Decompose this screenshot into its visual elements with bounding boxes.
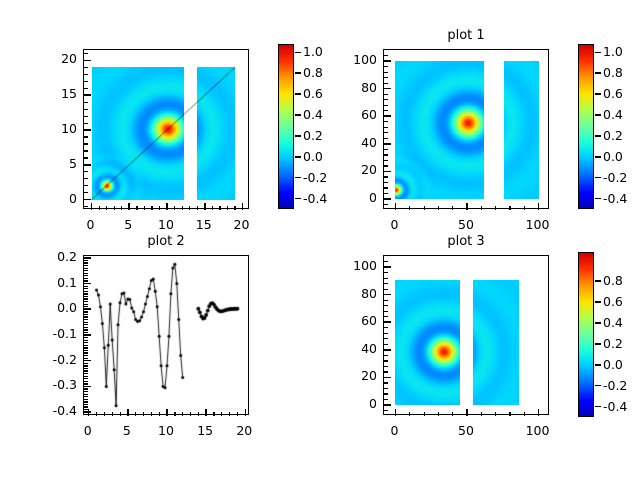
ytick-label: 0.2 [21,249,77,264]
ytick-minor [384,344,388,345]
ytick-minor [84,378,88,379]
ytick-label: 60 [321,107,377,122]
ytick-minor [84,288,88,289]
xtick-minor [99,206,100,210]
ytick-minor [84,260,88,261]
image-plot-unnamed-frame [83,49,249,209]
image-patch-left-canvas [395,280,460,405]
ytick-minor [384,187,388,188]
colorbar-bottom-right-tick-label: 0.0 [603,357,623,372]
ytick-minor [84,109,88,110]
ytick-minor [384,272,388,273]
ytick-minor [84,381,88,382]
xtick-minor [524,206,525,210]
xtick-minor [174,412,175,416]
xtick-label: 0 [369,423,419,438]
ytick-label: 40 [321,341,377,356]
xtick-minor [198,412,199,416]
ytick-minor [84,347,88,348]
ytick-minor [384,204,388,205]
ytick-minor [84,324,88,325]
colorbar-top-right-tick-label: -0.2 [603,170,627,185]
ytick-minor [384,193,388,194]
ytick-major [84,360,91,362]
xtick-minor [151,206,152,210]
ytick-label: 5 [21,156,77,171]
xtick-minor [182,412,183,416]
xtick-minor [174,206,175,210]
ytick-minor [84,306,88,307]
ytick-minor [384,355,388,356]
ytick-label: 80 [321,286,377,301]
ytick-minor [384,333,388,334]
ytick-minor [384,388,388,389]
ytick-label: 0 [21,191,77,206]
ytick-minor [84,296,88,297]
xtick-minor [135,412,136,416]
ytick-minor [84,150,88,151]
xtick-minor [136,206,137,210]
xtick-label: 20 [219,423,269,438]
xtick-minor [190,412,191,416]
xtick-minor [106,206,107,210]
ytick-minor [384,121,388,122]
ytick-minor [84,88,88,89]
colorbar-top-left-tick [295,93,301,95]
ytick-minor [384,55,388,56]
ytick-minor [84,396,88,397]
image-plot-3-frame [383,255,549,415]
ytick-minor [384,311,388,312]
ytick-minor [84,383,88,384]
ytick-label: -0.2 [21,352,77,367]
colorbar-top-left-tick [295,156,301,158]
xtick-minor [495,412,496,416]
ytick-major [84,60,91,62]
ytick-major [84,334,91,336]
xtick-minor [509,206,510,210]
colorbar-bottom-right-tick [595,301,601,303]
ytick-major [84,164,91,166]
ytick-minor [84,373,88,374]
image-patch-left [395,280,460,405]
colorbar-bottom-right-tick [595,364,601,366]
ytick-minor [384,110,388,111]
colorbar-bottom-right-tick-label: 0.6 [603,294,623,309]
ytick-label: 40 [321,135,377,150]
ytick-minor [384,72,388,73]
colorbar-bottom-right-tick [595,406,601,408]
ytick-major [384,88,391,90]
ytick-minor [384,83,388,84]
ytick-major [384,294,391,296]
ytick-major [384,377,391,379]
ytick-label: 0 [321,396,377,411]
ytick-minor [84,171,88,172]
xtick-minor [143,412,144,416]
ytick-minor [84,322,88,323]
ytick-minor [84,136,88,137]
figure-canvas: 05101520051015201.00.80.60.40.20.0-0.2-0… [0,0,640,480]
ytick-minor [84,365,88,366]
xtick-label: 50 [441,423,491,438]
xtick-minor [112,412,113,416]
ytick-label: -0.1 [21,326,77,341]
ytick-major [384,266,391,268]
ytick-minor [84,123,88,124]
xtick-label: 100 [513,423,563,438]
ytick-minor [84,81,88,82]
ytick-minor [84,350,88,351]
ytick-minor [84,67,88,68]
diagonal-line [84,50,250,210]
line-plot-2-frame [83,255,249,415]
ytick-minor [84,388,88,389]
xtick-major [538,203,540,210]
ytick-minor [84,319,88,320]
ytick-minor [384,327,388,328]
ytick-minor [384,99,388,100]
ytick-minor [84,332,88,333]
ytick-minor [384,105,388,106]
colorbar-top-left-tick-label: 0.6 [303,86,323,101]
colorbar-bottom-right-tick-label: -0.4 [603,399,627,414]
ytick-minor [84,301,88,302]
ytick-minor [384,127,388,128]
ytick-minor [384,261,388,262]
xtick-minor [159,206,160,210]
xtick-major [128,203,130,210]
xtick-major [395,203,397,210]
colorbar-bottom-right-tick-label: 0.4 [603,315,623,330]
image-plot-3-title: plot 3 [383,234,549,249]
xtick-major [205,409,207,416]
xtick-minor [424,206,425,210]
ytick-minor [84,316,88,317]
ytick-minor [84,327,88,328]
ytick-minor [384,305,388,306]
colorbar-bottom-right-tick [595,280,601,282]
ytick-major [384,321,391,323]
colorbar-top-left-tick-label: 0.8 [303,65,323,80]
ytick-minor [384,338,388,339]
ytick-minor [84,304,88,305]
ytick-label: 0.0 [21,300,77,315]
colorbar-top-right[interactable] [578,44,594,209]
ytick-minor [384,366,388,367]
ytick-minor [384,176,388,177]
ytick-minor [384,77,388,78]
ytick-minor [84,391,88,392]
ytick-minor [84,311,88,312]
ytick-minor [84,291,88,292]
ytick-minor [84,394,88,395]
colorbar-top-right-tick [595,72,601,74]
xtick-minor [481,206,482,210]
colorbar-top-right-tick-label: 0.6 [603,86,623,101]
xtick-major [466,203,468,210]
colorbar-top-right-tick [595,198,601,200]
ytick-label: 20 [321,368,377,383]
ytick-minor [84,192,88,193]
ytick-minor [84,275,88,276]
ytick-label: 100 [321,258,377,273]
xtick-minor [229,412,230,416]
ytick-minor [384,94,388,95]
xtick-minor [438,206,439,210]
xtick-major [166,203,168,210]
colorbar-top-left[interactable] [278,44,294,209]
ytick-major [384,60,391,62]
colorbar-bottom-right-tick-label: -0.2 [603,378,627,393]
ytick-minor [84,102,88,103]
xtick-minor [234,206,235,210]
colorbar-bottom-right-tick [595,385,601,387]
colorbar-top-right-tick-label: 0.0 [603,149,623,164]
ytick-minor [84,368,88,369]
ytick-minor [384,410,388,411]
xtick-minor [227,206,228,210]
ytick-minor [84,340,88,341]
colorbar-bottom-right-tick [595,322,601,324]
xtick-major [395,409,397,416]
ytick-minor [84,409,88,410]
ytick-minor [384,300,388,301]
ytick-minor [84,399,88,400]
image-plot-1-title: plot 1 [383,28,549,43]
colorbar-bottom-right[interactable] [578,252,594,417]
xtick-minor [144,206,145,210]
ytick-minor [384,393,388,394]
ytick-label: 0 [321,190,377,205]
colorbar-top-left-tick [295,135,301,137]
ytick-minor [384,371,388,372]
ytick-label: -0.3 [21,377,77,392]
xtick-minor [212,206,213,210]
ytick-minor [384,382,388,383]
ytick-major [84,199,91,201]
ytick-minor [384,154,388,155]
xtick-major [466,409,468,416]
ytick-minor [84,406,88,407]
xtick-minor [182,206,183,210]
colorbar-top-right-tick-label: -0.4 [603,191,627,206]
ytick-minor [84,157,88,158]
ytick-minor [384,399,388,400]
xtick-minor [452,412,453,416]
colorbar-top-right-gradient [579,45,593,208]
ytick-minor [84,363,88,364]
xtick-minor [120,412,121,416]
xtick-minor [219,206,220,210]
ytick-minor [84,358,88,359]
colorbar-top-left-tick [295,52,301,54]
ytick-label: 80 [321,80,377,95]
xtick-minor [121,206,122,210]
xtick-minor [221,412,222,416]
ytick-major [84,411,91,413]
xtick-minor [438,412,439,416]
ytick-minor [84,355,88,356]
ytick-minor [384,182,388,183]
xtick-minor [104,412,105,416]
ytick-major [384,349,391,351]
ytick-minor [84,143,88,144]
image-patch-left [395,61,484,199]
ytick-minor [84,370,88,371]
xtick-minor [524,412,525,416]
ytick-minor [84,337,88,338]
ytick-major [384,198,391,200]
colorbar-bottom-right-gradient [579,253,593,416]
colorbar-top-right-tick [595,52,601,54]
ytick-major [384,171,391,173]
ytick-minor [384,149,388,150]
ytick-major [84,308,91,310]
xtick-minor [481,412,482,416]
ytick-major [384,143,391,145]
colorbar-top-left-gradient [279,45,293,208]
ytick-major [84,257,91,259]
ytick-minor [84,293,88,294]
ytick-minor [84,178,88,179]
ytick-minor [84,345,88,346]
ytick-minor [384,289,388,290]
ytick-minor [84,262,88,263]
colorbar-top-left-tick-label: 0.0 [303,149,323,164]
colorbar-top-right-tick-label: 0.2 [603,128,623,143]
ytick-major [84,386,91,388]
xtick-major [245,409,247,416]
ytick-minor [84,280,88,281]
ytick-minor [84,329,88,330]
colorbar-bottom-right-tick [595,343,601,345]
ytick-minor [84,278,88,279]
image-patch-left-canvas [395,61,484,199]
colorbar-bottom-right-tick-label: 0.2 [603,336,623,351]
ytick-major [384,404,391,406]
colorbar-top-right-tick [595,114,601,116]
ytick-minor [84,268,88,269]
ytick-minor [84,401,88,402]
xtick-label: 20 [216,217,266,232]
ytick-minor [84,342,88,343]
xtick-minor [151,412,152,416]
xtick-major [127,409,129,416]
xtick-minor [189,206,190,210]
xtick-major [538,409,540,416]
colorbar-bottom-right-tick-label: 0.8 [603,273,623,288]
ytick-minor [384,160,388,161]
ytick-major [84,94,91,96]
xtick-label: 0 [369,217,419,232]
ytick-minor [84,116,88,117]
colorbar-top-left-tick-label: 0.4 [303,107,323,122]
ytick-label: 60 [321,313,377,328]
colorbar-top-left-tick [295,114,301,116]
ytick-minor [84,206,88,207]
colorbar-top-right-tick-label: 0.4 [603,107,623,122]
xtick-minor [96,412,97,416]
ytick-minor [84,265,88,266]
colorbar-top-right-tick [595,135,601,137]
ytick-label: 20 [21,51,77,66]
ytick-minor [84,53,88,54]
xtick-minor [409,206,410,210]
ytick-minor [84,185,88,186]
xtick-minor [424,412,425,416]
xtick-label: 100 [513,217,563,232]
ytick-label: 10 [21,121,77,136]
ytick-minor [384,66,388,67]
ytick-major [84,129,91,131]
ytick-label: -0.4 [21,403,77,418]
xtick-major [91,203,93,210]
xtick-major [242,203,244,210]
ytick-minor [84,376,88,377]
ytick-minor [84,414,88,415]
colorbar-top-right-tick [595,177,601,179]
ytick-label: 100 [321,52,377,67]
ytick-minor [384,132,388,133]
xtick-minor [159,412,160,416]
xtick-minor [237,412,238,416]
colorbar-top-left-tick [295,177,301,179]
image-plot-1-frame [383,49,549,209]
colorbar-top-right-tick [595,93,601,95]
ytick-minor [84,298,88,299]
ytick-minor [384,360,388,361]
colorbar-top-left-tick-label: 1.0 [303,44,323,59]
image-patch-right-canvas [504,61,539,199]
ytick-major [84,283,91,285]
image-patch-right [473,280,519,405]
xtick-minor [213,412,214,416]
ytick-minor [384,165,388,166]
image-patch-right-canvas [473,280,519,405]
ytick-minor [84,270,88,271]
xtick-minor [114,206,115,210]
colorbar-top-left-tick [295,198,301,200]
ytick-minor [84,352,88,353]
colorbar-top-left-tick [295,72,301,74]
line-plot-2-title: plot 2 [83,234,249,249]
ytick-minor [84,314,88,315]
ytick-minor [384,283,388,284]
xtick-minor [197,206,198,210]
ytick-minor [84,273,88,274]
xtick-minor [452,206,453,210]
line-series-canvas [84,256,250,416]
xtick-label: 50 [441,217,491,232]
xtick-major [166,409,168,416]
ytick-label: 0.1 [21,275,77,290]
ytick-major [384,115,391,117]
ytick-minor [384,316,388,317]
xtick-minor [409,412,410,416]
image-patch-right [504,61,539,199]
xtick-major [204,203,206,210]
colorbar-top-right-tick-label: 1.0 [603,44,623,59]
ytick-minor [384,138,388,139]
ytick-minor [384,278,388,279]
xtick-minor [509,412,510,416]
colorbar-top-right-tick [595,156,601,158]
xtick-minor [495,206,496,210]
ytick-minor [84,74,88,75]
ytick-minor [84,404,88,405]
ytick-label: 20 [321,162,377,177]
